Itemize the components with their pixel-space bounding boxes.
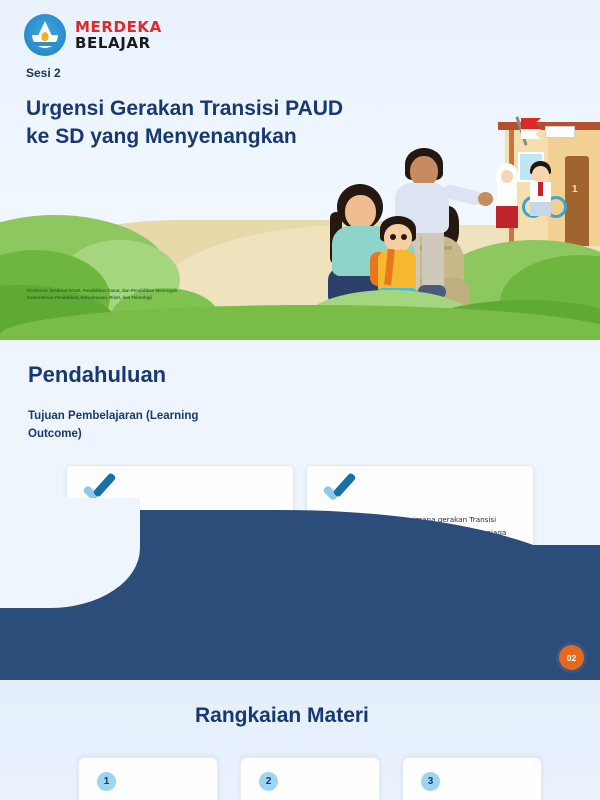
student-boy-tie <box>538 182 543 196</box>
ministry-line-2: Kementerian Pendidikan, Kebudayaan, Rise… <box>27 295 257 302</box>
brand-lockup: MERDEKA BELAJAR <box>24 14 162 56</box>
page-title: Urgensi Gerakan Transisi PAUD ke SD yang… <box>26 95 366 150</box>
materi-section: Rangkaian Materi 1 2 3 <box>0 681 600 800</box>
materi-card[interactable]: 1 <box>78 757 218 800</box>
classroom-door <box>565 156 589 246</box>
child-shirt <box>378 250 416 292</box>
session-label: Sesi 2 <box>26 66 61 80</box>
brand-line-belajar: BELAJAR <box>75 36 162 51</box>
check-icon-long-stroke <box>92 472 116 497</box>
father-leg-right <box>422 228 444 290</box>
materi-number-badge: 2 <box>259 772 278 791</box>
classroom-number: 1 <box>572 184 578 195</box>
student-girl-face <box>501 170 513 183</box>
subsection-heading-tujuan: Tujuan Pembelajaran (Learning Outcome) <box>28 408 238 444</box>
check-icon <box>323 480 357 504</box>
mother-face <box>345 195 376 229</box>
school-sign <box>545 126 575 138</box>
slide-page: 1 <box>0 0 600 800</box>
materi-card-list: 1 2 3 <box>78 757 542 800</box>
student-boy-shorts <box>530 202 551 216</box>
student-boy-face <box>532 166 549 183</box>
check-icon-long-stroke <box>332 472 356 497</box>
materi-number-badge: 3 <box>421 772 440 791</box>
emblem-book <box>32 42 58 46</box>
father-hand <box>478 192 493 206</box>
emblem-flame <box>42 32 49 41</box>
materi-number-badge: 1 <box>97 772 116 791</box>
materi-card[interactable]: 3 <box>402 757 542 800</box>
materi-card[interactable]: 2 <box>240 757 380 800</box>
child-eye-right <box>401 234 407 240</box>
tut-wuri-handayani-emblem-icon <box>24 14 66 56</box>
student-girl-skirt <box>496 206 518 228</box>
hero-section: 1 <box>0 0 600 340</box>
page-number-badge: 02 <box>559 645 584 670</box>
merdeka-belajar-wordmark: MERDEKA BELAJAR <box>75 20 162 51</box>
brand-line-merdeka: MERDEKA <box>75 20 162 35</box>
ministry-attribution: Direktorat Jenderal PAUD, Pendidikan Das… <box>27 288 257 302</box>
section-heading-pendahuluan: Pendahuluan <box>28 362 166 388</box>
ministry-line-1: Direktorat Jenderal PAUD, Pendidikan Das… <box>27 288 257 295</box>
section-heading-rangkaian-materi: Rangkaian Materi <box>195 703 375 730</box>
child-eye-left <box>390 234 396 240</box>
